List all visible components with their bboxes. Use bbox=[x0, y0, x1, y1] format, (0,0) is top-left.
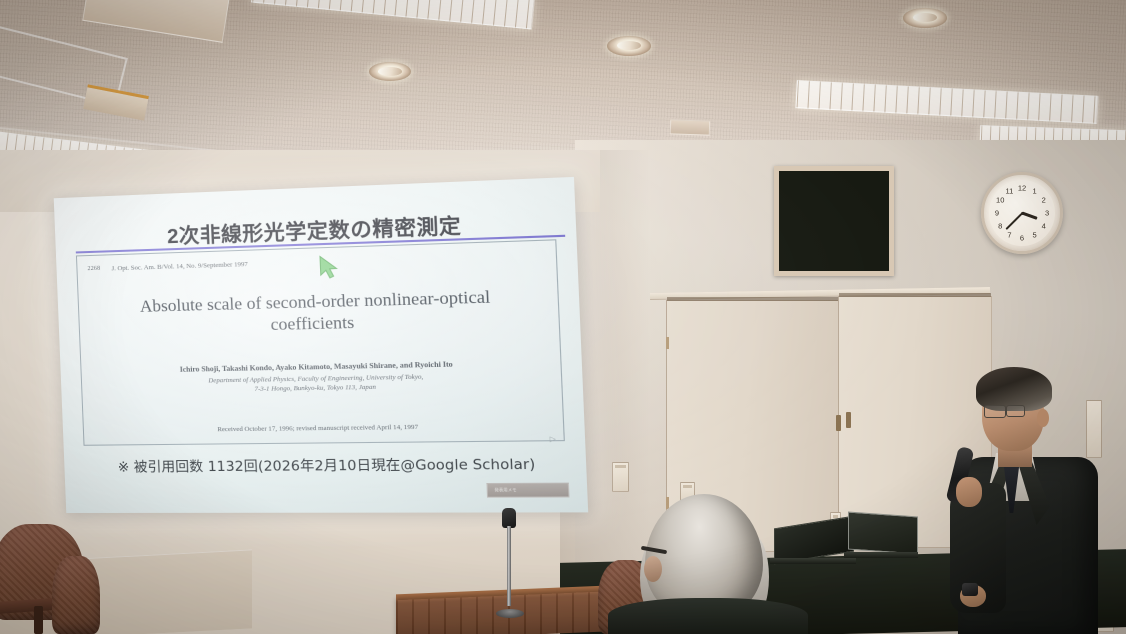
slide-footer-label: 発表用メモ bbox=[488, 484, 569, 494]
presenter-glasses-right-lens bbox=[1006, 405, 1025, 417]
clock-numeral: 5 bbox=[1032, 230, 1036, 239]
downlight-icon bbox=[369, 62, 411, 81]
presentation-clicker-icon[interactable] bbox=[962, 583, 978, 596]
clock-face: 12 1 2 3 4 5 6 7 8 9 10 11 bbox=[989, 180, 1055, 246]
slide-secondary-cursor-icon: ▷ bbox=[550, 435, 556, 444]
paper-header: 2268 J. Opt. Soc. Am. B/Vol. 14, No. 9/S… bbox=[77, 251, 556, 280]
laptop-left[interactable] bbox=[774, 522, 852, 560]
paper-received-date: Received October 17, 1996; revised manus… bbox=[104, 422, 541, 434]
projection-booth-window bbox=[774, 166, 894, 276]
wall-clock: 12 1 2 3 4 5 6 7 8 9 10 11 bbox=[981, 172, 1063, 254]
door-lintel bbox=[839, 293, 991, 297]
clock-numeral: 3 bbox=[1045, 209, 1049, 218]
slide-footer-box: 発表用メモ bbox=[486, 483, 569, 498]
presenter-hand-holding-microphone bbox=[956, 477, 982, 507]
clock-numeral: 6 bbox=[1020, 234, 1024, 243]
screen-surface: 2次非線形光学定数の精密測定 2268 J. Opt. Soc. Am. B/V… bbox=[54, 177, 588, 513]
presenter-glasses-left-lens bbox=[984, 405, 1006, 418]
downlight-icon bbox=[903, 8, 947, 28]
paper-folio-number: 2268 bbox=[87, 266, 100, 272]
ceiling-vent bbox=[670, 119, 710, 135]
microphone-neck bbox=[507, 526, 511, 606]
presentation-slide: 2次非線形光学定数の精密測定 2268 J. Opt. Soc. Am. B/V… bbox=[72, 184, 577, 509]
clock-numeral: 10 bbox=[996, 196, 1004, 205]
light-switch-plate[interactable] bbox=[612, 462, 629, 492]
clock-numeral: 8 bbox=[998, 221, 1002, 230]
door-hinge bbox=[666, 337, 669, 349]
door-handle[interactable] bbox=[836, 415, 841, 431]
clock-numeral: 2 bbox=[1042, 196, 1046, 205]
chair-mid-left[interactable] bbox=[52, 556, 100, 634]
clock-numeral: 7 bbox=[1007, 230, 1011, 239]
presenter-ear bbox=[1037, 409, 1049, 427]
downlight-icon bbox=[607, 36, 651, 56]
clock-numeral: 1 bbox=[1032, 187, 1036, 196]
clock-numeral: 11 bbox=[1006, 187, 1014, 196]
audience-shoulders bbox=[608, 598, 808, 634]
microphone-base bbox=[496, 609, 524, 618]
clock-hour-hand bbox=[1022, 212, 1038, 220]
audience-ear bbox=[644, 556, 662, 582]
projection-screen: 2次非線形光学定数の精密測定 2268 J. Opt. Soc. Am. B/V… bbox=[54, 177, 588, 513]
paper-affiliation: Department of Applied Physics, Faculty o… bbox=[102, 370, 539, 397]
chair-leg bbox=[34, 606, 43, 634]
clock-numeral: 12 bbox=[1018, 183, 1026, 192]
door-handle[interactable] bbox=[846, 412, 851, 428]
paper-journal-reference: J. Opt. Soc. Am. B/Vol. 14, No. 9/Septem… bbox=[111, 261, 248, 272]
laptop-screen bbox=[848, 512, 918, 555]
laptop-base bbox=[844, 552, 918, 558]
lecture-room-photo: 12 1 2 3 4 5 6 7 8 9 10 11 bbox=[0, 0, 1126, 634]
clock-center-pin bbox=[1021, 212, 1024, 215]
presenter bbox=[940, 365, 1126, 634]
paper-title: Absolute scale of second-order nonlinear… bbox=[113, 286, 521, 339]
clock-minute-hand bbox=[1005, 212, 1022, 229]
desk-microphone[interactable] bbox=[498, 508, 520, 618]
laptop-base bbox=[770, 558, 856, 564]
laptop-right[interactable] bbox=[848, 514, 916, 554]
green-arrow-cursor-icon bbox=[319, 255, 341, 280]
slide-citation-note: ※ 被引用回数 1132回(2026年2月10日現在@Google Schola… bbox=[82, 452, 575, 476]
clock-numeral: 9 bbox=[995, 209, 999, 218]
microphone-head-icon bbox=[502, 508, 516, 528]
clock-numeral: 4 bbox=[1042, 221, 1046, 230]
door-lintel bbox=[667, 297, 839, 301]
